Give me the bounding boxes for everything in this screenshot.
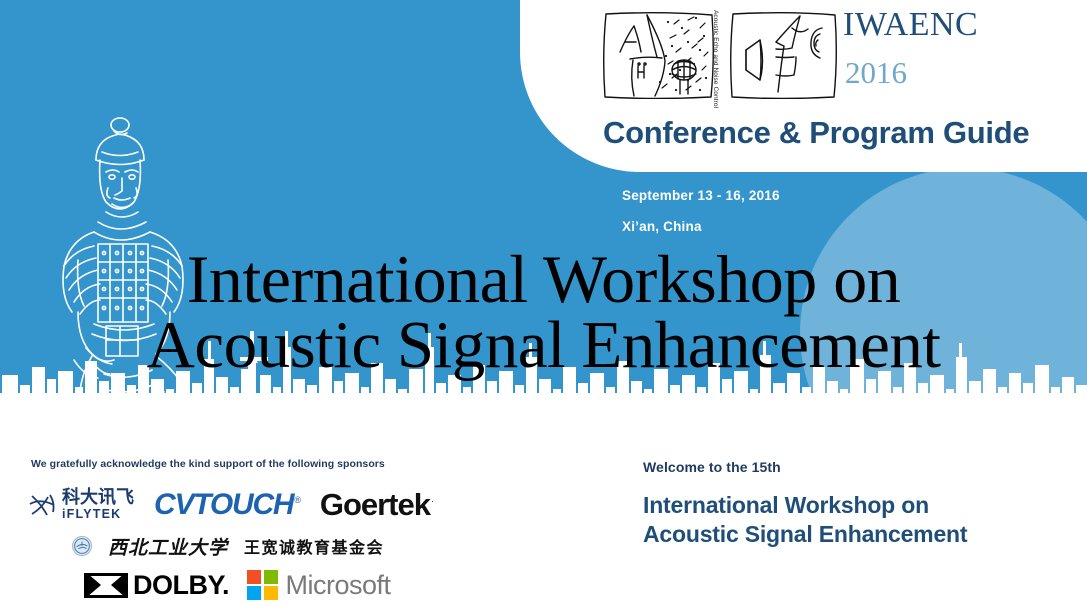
welcome-line2: Acoustic Signal Enhancement xyxy=(643,520,967,549)
sponsor-row-2: 西北工业大学 王宽诚教育基金会 xyxy=(72,533,384,559)
npu-seal-icon xyxy=(72,536,92,556)
conference-dates: September 13 - 16, 2016 xyxy=(622,188,780,203)
sponsor-logo-npu: 西北工业大学 xyxy=(108,533,228,560)
welcome-lead-text: Welcome to the 15th xyxy=(643,459,781,475)
workshop-title: International Workshop on Acoustic Signa… xyxy=(0,247,1087,378)
iflytek-mark-icon xyxy=(28,490,58,520)
page-title: Conference & Program Guide xyxy=(603,116,1029,150)
workshop-title-line1: International Workshop on xyxy=(0,247,1087,313)
workshop-title-line2: Acoustic Signal Enhancement xyxy=(0,313,1087,378)
dolby-wordmark: DOLBY. xyxy=(133,570,229,601)
sponsor-logo-goertek: Goertek· xyxy=(320,487,433,523)
sponsor-row-3: DOLBY. Microsoft xyxy=(84,566,391,604)
sponsor-acknowledgement: We gratefully acknowledge the kind suppo… xyxy=(31,458,385,470)
microsoft-squares-icon xyxy=(247,570,278,601)
sponsor-logo-microsoft: Microsoft xyxy=(247,570,391,601)
iwaenc-acronym: IWAENC xyxy=(843,8,978,42)
sponsor-logo-dolby: DOLBY. xyxy=(84,570,229,601)
sponsor-logo-wang-kuancheng-foundation: 王宽诚教育基金会 xyxy=(244,534,384,558)
dolby-double-d-icon xyxy=(84,573,128,598)
cvtouch-wordmark: CVTOUCH xyxy=(154,488,293,521)
welcome-line1: International Workshop on xyxy=(643,491,967,520)
welcome-workshop-name: International Workshop on Acoustic Signa… xyxy=(643,491,967,550)
goertek-mark: · xyxy=(431,496,433,506)
footer-area: We gratefully acknowledge the kind suppo… xyxy=(0,441,1087,612)
iwaenc-year: 2016 xyxy=(845,57,907,88)
logo-vertical-label: Acoustic Echo and Noise Control xyxy=(707,10,719,96)
iflytek-english-name: iFLYTEK xyxy=(62,508,134,521)
sponsor-logo-iflytek: 科大讯飞 iFLYTEK xyxy=(28,489,134,521)
hero-banner: Acoustic Echo and Noise Control IWAENC 2… xyxy=(0,0,1087,441)
conference-guide-cover: Acoustic Echo and Noise Control IWAENC 2… xyxy=(0,0,1087,612)
iflytek-chinese-name: 科大讯飞 xyxy=(62,489,134,507)
sponsor-row-1: 科大讯飞 iFLYTEK CVTOUCH® Goertek· xyxy=(28,485,433,525)
conference-location: Xi’an, China xyxy=(622,219,702,234)
microsoft-wordmark: Microsoft xyxy=(286,570,391,601)
iwaenc-hand-drawn-logo: Acoustic Echo and Noise Control xyxy=(600,4,840,99)
goertek-wordmark: Goertek xyxy=(320,487,430,522)
sponsor-logo-cvtouch: CVTOUCH® xyxy=(154,488,300,522)
cvtouch-registered-mark: ® xyxy=(294,495,299,505)
